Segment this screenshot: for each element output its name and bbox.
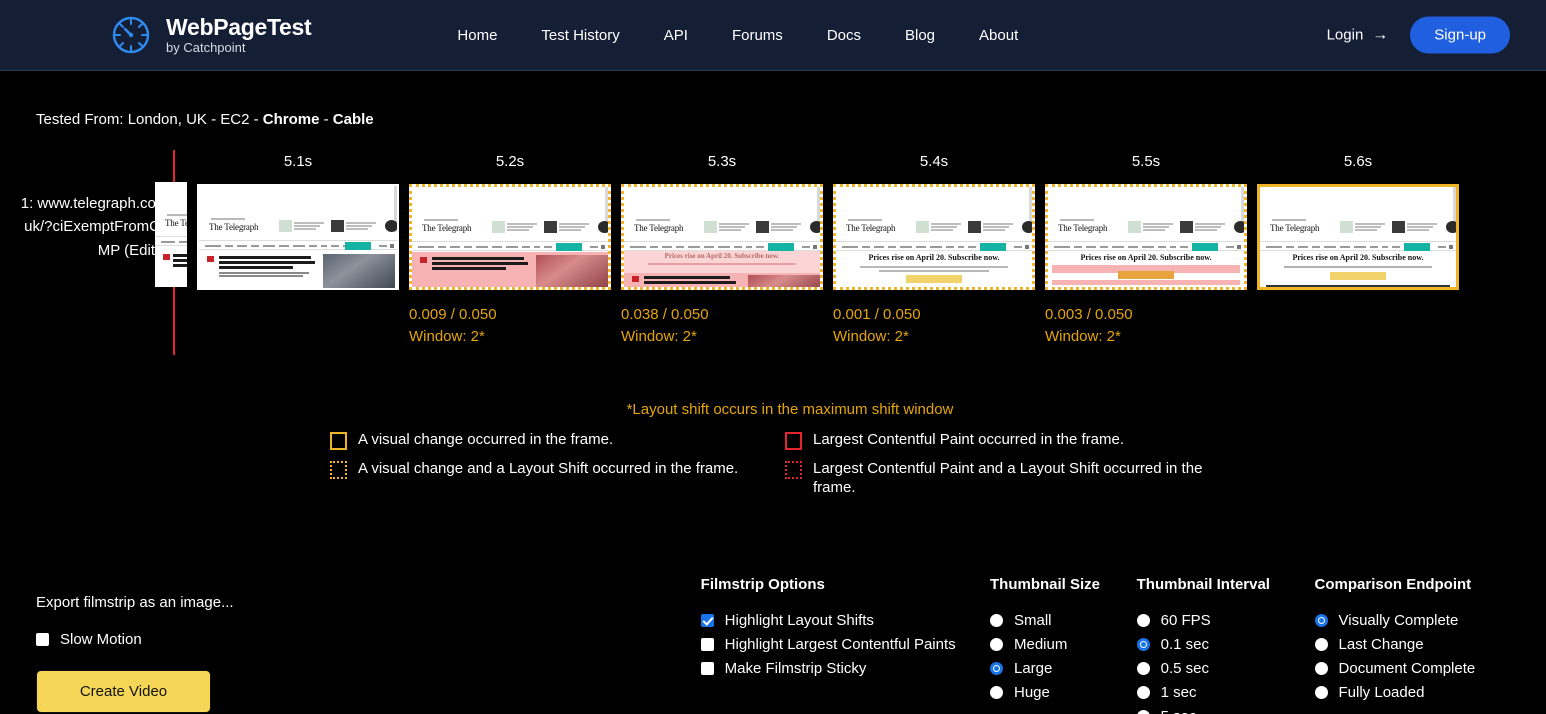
frame-thumbnail[interactable]: The Telegraph: [197, 184, 399, 290]
legend-item: A visual change and a Layout Shift occur…: [330, 459, 785, 479]
filmstrip-frame-5.4s: 5.4s The Telegraph: [833, 150, 1035, 348]
frame-time-label: 5.1s: [197, 150, 399, 174]
interval-1-sec[interactable]: 1 sec: [1137, 684, 1315, 701]
option-label: Last Change: [1339, 636, 1424, 653]
interval-0-5-sec[interactable]: 0.5 sec: [1137, 660, 1315, 677]
option-label: Medium: [1014, 636, 1067, 653]
filmstrip: 1: www.telegraph.co.uk/?ciExemptFromCMP …: [0, 150, 1546, 365]
legend-column-right: Largest Contentful Paint occurred in the…: [785, 430, 1213, 506]
option-label: Huge: [1014, 684, 1050, 701]
frame-time-label: 5.6s: [1257, 150, 1459, 174]
filmstrip-legend: *Layout shift occurs in the maximum shif…: [0, 401, 1546, 506]
red-dotted-box-icon: [785, 461, 802, 479]
tested-from-connection: Cable: [333, 111, 374, 128]
speedometer-icon: [110, 14, 152, 56]
option-label: Highlight Largest Contentful Paints: [725, 636, 956, 653]
legend-item-label: Largest Contentful Paint and a Layout Sh…: [813, 459, 1213, 497]
slow-motion-checkbox[interactable]: [36, 633, 49, 646]
filmstrip-frame-5.3s: 5.3s The Telegraph: [621, 150, 823, 348]
thumbnail-size-title: Thumbnail Size: [990, 576, 1137, 593]
option-label: Highlight Layout Shifts: [725, 612, 874, 629]
amber-solid-box-icon: [330, 432, 347, 450]
thumbnail-interval-group: Thumbnail Interval 60 FPS 0.1 sec 0.5 se…: [1137, 576, 1315, 714]
endpoint-visually-complete[interactable]: Visually Complete: [1315, 612, 1510, 629]
frame-time-label: 5.2s: [409, 150, 611, 174]
nav-item-test-history[interactable]: Test History: [541, 27, 619, 44]
option-label: Small: [1014, 612, 1052, 629]
radio-60-fps[interactable]: [1137, 614, 1150, 627]
frame-thumbnail[interactable]: The Telegraph: [409, 184, 611, 290]
frame-cls-window: Window: 2*: [409, 326, 611, 348]
export-section: Export filmstrip as an image... Slow Mot…: [36, 576, 701, 714]
frame-cls-block: 0.009 / 0.050 Window: 2*: [409, 304, 611, 348]
radio-0-1-sec[interactable]: [1137, 638, 1150, 651]
filmstrip-controls: Export filmstrip as an image... Slow Mot…: [0, 576, 1546, 714]
radio-0-5-sec[interactable]: [1137, 662, 1150, 675]
main-navigation: Home Test History API Forums Docs Blog A…: [457, 27, 1018, 44]
radio-visually-complete[interactable]: [1315, 614, 1328, 627]
option-label: Make Filmstrip Sticky: [725, 660, 867, 677]
frame-thumbnail[interactable]: The Telegraph: [1045, 184, 1247, 290]
legend-item-label: Largest Contentful Paint occurred in the…: [813, 430, 1124, 449]
nav-item-docs[interactable]: Docs: [827, 27, 861, 44]
frame-time-label: 5.5s: [1045, 150, 1247, 174]
filmstrip-frame-5.6s: 5.6s The Telegraph: [1257, 150, 1459, 348]
brand-title: WebPageTest: [166, 15, 311, 39]
legend-item-label: A visual change and a Layout Shift occur…: [358, 459, 738, 478]
nav-item-api[interactable]: API: [664, 27, 688, 44]
filmstrip-row-label[interactable]: 1: www.telegraph.co.uk/?ciExemptFromCMP …: [20, 192, 160, 262]
option-label: 0.5 sec: [1161, 660, 1209, 677]
option-label: 5 sec: [1161, 708, 1197, 714]
option-highlight-layout-shifts[interactable]: Highlight Layout Shifts: [701, 612, 990, 629]
comparison-endpoint-title: Comparison Endpoint: [1315, 576, 1510, 593]
radio-large[interactable]: [990, 662, 1003, 675]
legend-note: *Layout shift occurs in the maximum shif…: [330, 401, 1250, 418]
frame-thumbnail[interactable]: The Telegraph: [621, 184, 823, 290]
frame-cls-block: 0.003 / 0.050 Window: 2*: [1045, 304, 1247, 348]
header-actions: Login → Sign-up: [1327, 17, 1510, 54]
site-header: WebPageTest by Catchpoint Home Test Hist…: [0, 0, 1546, 71]
thumbnail-size-huge[interactable]: Huge: [990, 684, 1137, 701]
frame-cls-block: 0.038 / 0.050 Window: 2*: [621, 304, 823, 348]
filmstrip-frames: 5.1s The Telegraph: [197, 150, 1459, 348]
frame-cls-window: Window: 2*: [621, 326, 823, 348]
radio-huge[interactable]: [990, 686, 1003, 699]
signup-button[interactable]: Sign-up: [1410, 17, 1510, 54]
option-label: Visually Complete: [1339, 612, 1459, 629]
frame-cls-block: 0.001 / 0.050 Window: 2*: [833, 304, 1035, 348]
red-solid-box-icon: [785, 432, 802, 450]
make-filmstrip-sticky-checkbox[interactable]: [701, 662, 714, 675]
endpoint-fully-loaded[interactable]: Fully Loaded: [1315, 684, 1510, 701]
filmstrip-frame-5.2s: 5.2s The Telegraph: [409, 150, 611, 348]
interval-60fps[interactable]: 60 FPS: [1137, 612, 1315, 629]
legend-item: Largest Contentful Paint occurred in the…: [785, 430, 1213, 450]
filmstrip-frame-5.1s: 5.1s The Telegraph: [197, 150, 399, 348]
arrow-right-icon: →: [1372, 27, 1388, 43]
nav-item-about[interactable]: About: [979, 27, 1018, 44]
radio-document-complete[interactable]: [1315, 662, 1328, 675]
tested-from-line: Tested From: London, UK - EC2 - Chrome -…: [0, 71, 1546, 128]
tested-from-browser: Chrome: [263, 111, 320, 128]
option-label: 60 FPS: [1161, 612, 1211, 629]
slow-motion-row[interactable]: Slow Motion: [36, 631, 701, 648]
frame-cls-value: 0.001 / 0.050: [833, 304, 1035, 326]
frame-cls-value: 0.038 / 0.050: [621, 304, 823, 326]
frame-time-label: 5.3s: [621, 150, 823, 174]
brand-logo-block[interactable]: WebPageTest by Catchpoint: [110, 14, 311, 56]
radio-5-sec[interactable]: [1137, 710, 1150, 714]
option-label: Large: [1014, 660, 1052, 677]
option-label: Fully Loaded: [1339, 684, 1425, 701]
option-label: Document Complete: [1339, 660, 1476, 677]
legend-column-left: A visual change occurred in the frame. A…: [330, 430, 785, 506]
option-label: 1 sec: [1161, 684, 1197, 701]
filmstrip-options-group: Filmstrip Options Highlight Layout Shift…: [701, 576, 990, 714]
filmstrip-options-title: Filmstrip Options: [701, 576, 990, 593]
create-video-button[interactable]: Create Video: [36, 670, 211, 713]
frame-thumbnail[interactable]: The Telegraph: [833, 184, 1035, 290]
frame-cls-value: 0.009 / 0.050: [409, 304, 611, 326]
page-content: Tested From: London, UK - EC2 - Chrome -…: [0, 71, 1546, 506]
legend-item-label: A visual change occurred in the frame.: [358, 430, 613, 449]
filmstrip-clipped-thumbnail: The Telegraph: [155, 182, 187, 287]
legend-item: A visual change occurred in the frame.: [330, 430, 785, 450]
nav-item-home[interactable]: Home: [457, 27, 497, 44]
frame-cls-window: Window: 2*: [833, 326, 1035, 348]
slow-motion-label: Slow Motion: [60, 631, 142, 648]
frame-cls-window: Window: 2*: [1045, 326, 1247, 348]
tested-from-prefix: Tested From: London, UK - EC2 -: [36, 111, 263, 128]
login-link[interactable]: Login →: [1327, 27, 1389, 44]
option-highlight-lcp[interactable]: Highlight Largest Contentful Paints: [701, 636, 990, 653]
radio-last-change[interactable]: [1315, 638, 1328, 651]
export-title[interactable]: Export filmstrip as an image...: [36, 594, 701, 611]
radio-small[interactable]: [990, 614, 1003, 627]
endpoint-document-complete[interactable]: Document Complete: [1315, 660, 1510, 677]
thumbnail-size-large[interactable]: Large: [990, 660, 1137, 677]
interval-5-sec[interactable]: 5 sec: [1137, 708, 1315, 714]
nav-item-blog[interactable]: Blog: [905, 27, 935, 44]
frame-cls-value: 0.003 / 0.050: [1045, 304, 1247, 326]
comparison-endpoint-group: Comparison Endpoint Visually Complete La…: [1315, 576, 1510, 714]
radio-fully-loaded[interactable]: [1315, 686, 1328, 699]
legend-item: Largest Contentful Paint and a Layout Sh…: [785, 459, 1213, 497]
thumbnail-interval-title: Thumbnail Interval: [1137, 576, 1315, 593]
highlight-lcp-checkbox[interactable]: [701, 638, 714, 651]
thumbnail-size-medium[interactable]: Medium: [990, 636, 1137, 653]
interval-0-1-sec[interactable]: 0.1 sec: [1137, 636, 1315, 653]
brand-subtitle: by Catchpoint: [166, 40, 311, 56]
filmstrip-frame-5.5s: 5.5s The Telegraph: [1045, 150, 1247, 348]
login-label: Login: [1327, 27, 1364, 44]
radio-medium[interactable]: [990, 638, 1003, 651]
frame-thumbnail[interactable]: The Telegraph: [1257, 184, 1459, 290]
highlight-layout-shifts-checkbox[interactable]: [701, 614, 714, 627]
option-label: 0.1 sec: [1161, 636, 1209, 653]
tested-from-separator: -: [319, 111, 332, 128]
thumbnail-size-small[interactable]: Small: [990, 612, 1137, 629]
frame-time-label: 5.4s: [833, 150, 1035, 174]
nav-item-forums[interactable]: Forums: [732, 27, 783, 44]
option-make-sticky[interactable]: Make Filmstrip Sticky: [701, 660, 990, 677]
radio-1-sec[interactable]: [1137, 686, 1150, 699]
thumbnail-size-group: Thumbnail Size Small Medium Large Huge: [990, 576, 1137, 714]
amber-dotted-box-icon: [330, 461, 347, 479]
endpoint-last-change[interactable]: Last Change: [1315, 636, 1510, 653]
